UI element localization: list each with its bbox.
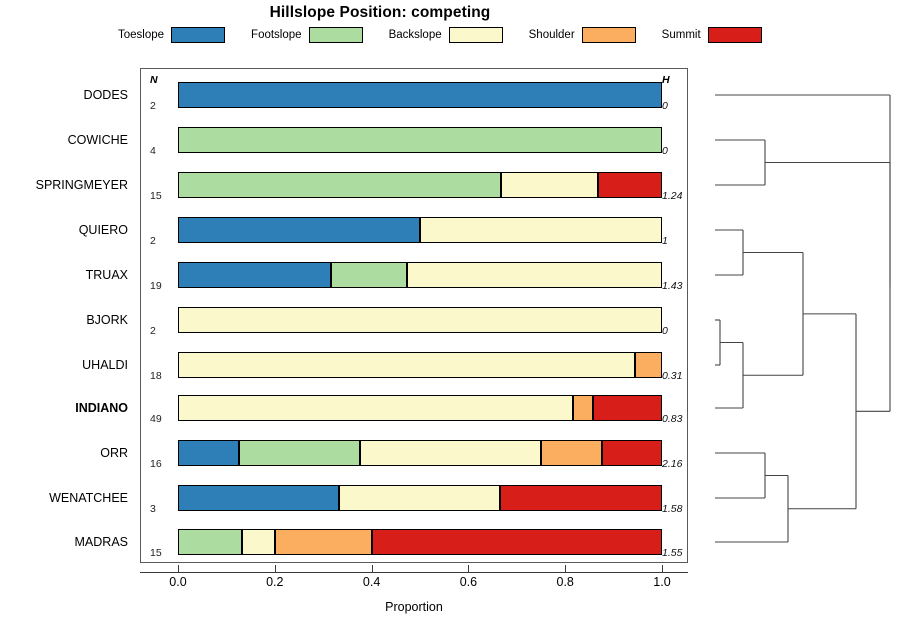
bar-segment-toeslope[interactable] [178, 82, 662, 108]
bar-row-bjork[interactable] [178, 307, 662, 333]
bar-segment-toeslope[interactable] [178, 262, 331, 288]
x-tick-label: 0.0 [169, 575, 186, 589]
x-axis: 0.00.20.40.60.81.0 [140, 563, 688, 603]
bar-segment-backslope[interactable] [360, 440, 542, 466]
bar-row-orr[interactable] [178, 440, 662, 466]
bar-row-indiano[interactable] [178, 395, 662, 421]
bar-segment-backslope[interactable] [178, 352, 635, 378]
bar-segment-shoulder[interactable] [275, 529, 372, 555]
bar-segment-summit[interactable] [372, 529, 662, 555]
bar-segment-toeslope[interactable] [178, 440, 239, 466]
x-tick [372, 565, 373, 573]
bar-segment-footslope[interactable] [178, 529, 242, 555]
bar-segment-shoulder[interactable] [573, 395, 593, 421]
bar-segment-shoulder[interactable] [635, 352, 662, 378]
bar-row-uhaldi[interactable] [178, 352, 662, 378]
bar-row-dodes[interactable] [178, 82, 662, 108]
bar-segment-toeslope[interactable] [178, 217, 420, 243]
bar-segment-footslope[interactable] [178, 172, 501, 198]
bar-segment-footslope[interactable] [178, 127, 662, 153]
dendrogram [700, 0, 900, 640]
bar-segment-summit[interactable] [500, 485, 662, 511]
bar-row-wenatchee[interactable] [178, 485, 662, 511]
bar-segment-backslope[interactable] [407, 262, 662, 288]
x-axis-title: Proportion [140, 600, 688, 614]
bar-segment-backslope[interactable] [178, 307, 662, 333]
x-axis-line [140, 572, 688, 573]
x-tick-label: 1.0 [653, 575, 670, 589]
bar-row-quiero[interactable] [178, 217, 662, 243]
x-tick [662, 565, 663, 573]
bar-row-springmeyer[interactable] [178, 172, 662, 198]
x-tick [565, 565, 566, 573]
bar-segment-footslope[interactable] [331, 262, 407, 288]
bar-row-truax[interactable] [178, 262, 662, 288]
bar-segment-backslope[interactable] [420, 217, 662, 243]
bar-segment-backslope[interactable] [501, 172, 598, 198]
bar-segment-shoulder[interactable] [541, 440, 602, 466]
x-tick [178, 565, 179, 573]
x-tick [275, 565, 276, 573]
chart-page: Hillslope Position: competing ToeslopeFo… [0, 0, 900, 640]
bar-segment-footslope[interactable] [239, 440, 360, 466]
x-tick-label: 0.2 [266, 575, 283, 589]
x-tick-label: 0.4 [363, 575, 380, 589]
bar-segment-summit[interactable] [598, 172, 662, 198]
x-tick-label: 0.6 [460, 575, 477, 589]
bar-segment-toeslope[interactable] [178, 485, 339, 511]
bar-row-madras[interactable] [178, 529, 662, 555]
bar-segment-summit[interactable] [602, 440, 663, 466]
bar-segment-backslope[interactable] [178, 395, 573, 421]
bar-segment-backslope[interactable] [339, 485, 500, 511]
bar-segment-backslope[interactable] [242, 529, 274, 555]
bar-segment-summit[interactable] [593, 395, 662, 421]
x-tick-label: 0.8 [556, 575, 573, 589]
bar-row-cowiche[interactable] [178, 127, 662, 153]
x-tick [468, 565, 469, 573]
